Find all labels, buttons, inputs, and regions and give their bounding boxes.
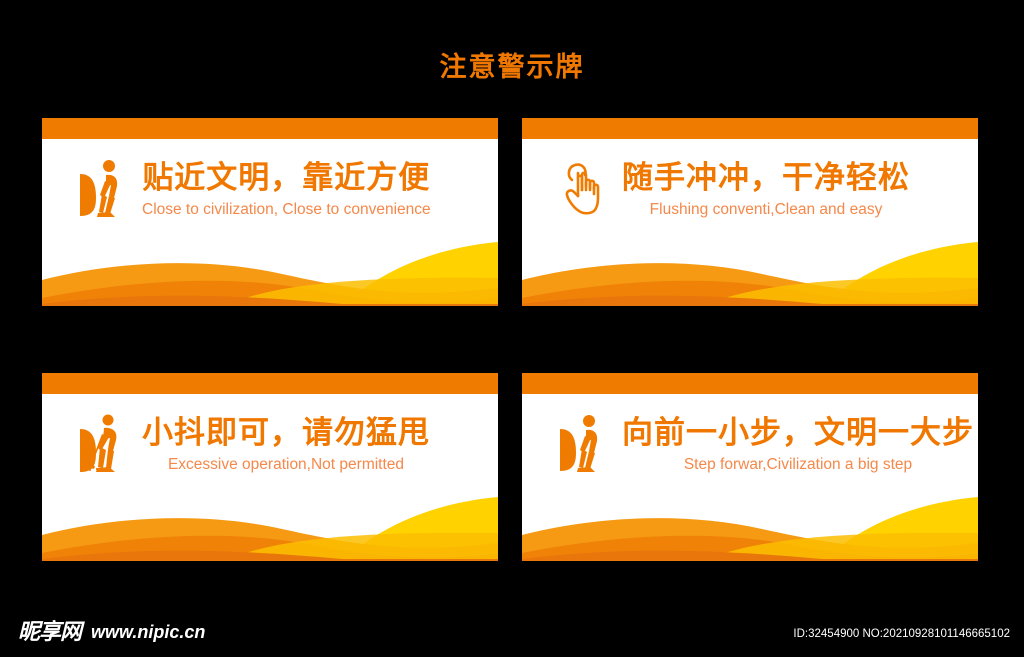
- wave-decoration: [522, 489, 978, 561]
- slogan-chinese: 贴近文明，靠近方便: [142, 158, 430, 198]
- sign-board-1[interactable]: 贴近文明，靠近方便 Close to civilization, Close t…: [42, 118, 498, 306]
- slogan-chinese: 小抖即可，请勿猛甩: [142, 413, 430, 453]
- slogan-english: Step forwar,Civilization a big step: [684, 454, 912, 476]
- asset-id-text: ID:32454900 NO:20210928101146665102: [793, 627, 1010, 641]
- board-text: 向前一小步，文明一大步 Step forwar,Civilization a b…: [622, 413, 974, 476]
- wave-decoration: [522, 234, 978, 306]
- slogan-english: Close to civilization, Close to convenie…: [142, 199, 431, 221]
- board-text: 小抖即可，请勿猛甩 Excessive operation,Not permit…: [142, 413, 430, 476]
- slogan-english: Flushing conventi,Clean and easy: [650, 199, 883, 221]
- board-top-bar: [42, 373, 498, 394]
- board-top-bar: [522, 373, 978, 394]
- watermark-logo: 昵享网: [18, 620, 81, 644]
- man-at-urinal-icon: [556, 411, 610, 477]
- page-title: 注意警示牌: [0, 50, 1024, 84]
- board-content: 随手冲冲，干净轻松 Flushing conventi,Clean and ea…: [522, 139, 978, 239]
- watermark-url: www.nipic.cn: [91, 620, 205, 644]
- slogan-chinese: 随手冲冲，干净轻松: [622, 158, 910, 198]
- wave-decoration: [42, 234, 498, 306]
- sign-board-2[interactable]: 随手冲冲，干净轻松 Flushing conventi,Clean and ea…: [522, 118, 978, 306]
- pointing-hand-tap-icon: [556, 156, 610, 222]
- board-top-bar: [42, 118, 498, 139]
- board-content: 小抖即可，请勿猛甩 Excessive operation,Not permit…: [42, 394, 498, 494]
- board-top-bar: [522, 118, 978, 139]
- sign-board-3[interactable]: 小抖即可，请勿猛甩 Excessive operation,Not permit…: [42, 373, 498, 561]
- sign-board-grid: 贴近文明，靠近方便 Close to civilization, Close t…: [42, 118, 982, 573]
- man-at-urinal-icon: [76, 156, 130, 222]
- wave-decoration: [42, 489, 498, 561]
- board-content: 向前一小步，文明一大步 Step forwar,Civilization a b…: [522, 394, 978, 494]
- sign-board-4[interactable]: 向前一小步，文明一大步 Step forwar,Civilization a b…: [522, 373, 978, 561]
- slogan-english: Excessive operation,Not permitted: [168, 454, 404, 476]
- man-shaking-icon: [76, 411, 130, 477]
- board-text: 贴近文明，靠近方便 Close to civilization, Close t…: [142, 158, 431, 221]
- board-content: 贴近文明，靠近方便 Close to civilization, Close t…: [42, 139, 498, 239]
- slogan-chinese: 向前一小步，文明一大步: [622, 413, 974, 453]
- board-text: 随手冲冲，干净轻松 Flushing conventi,Clean and ea…: [622, 158, 910, 221]
- site-watermark: 昵享网 www.nipic.cn: [18, 620, 205, 644]
